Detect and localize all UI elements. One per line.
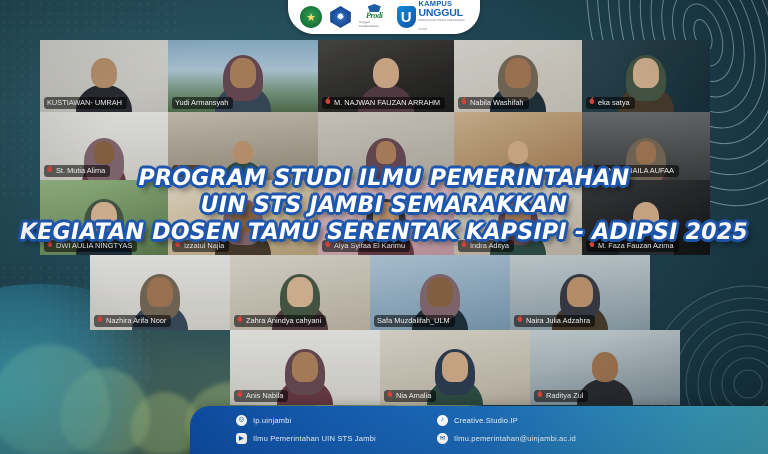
logo-bar: Prodi Unggul Terakreditasi KAMPUS UNGGUL…: [288, 0, 480, 34]
participant-tile[interactable]: KUSTIAWAN- UMRAH: [40, 40, 168, 112]
headline-line-2: UIN STS JAMBI SEMARAKKAN: [0, 192, 768, 219]
prodi-logo-label: Prodi: [366, 12, 383, 20]
footer-contact-label: Creative.Studio.IP: [454, 416, 518, 425]
muted-microphone-icon: [387, 392, 393, 400]
participant-name: KUSTIAWAN- UMRAH: [47, 98, 122, 107]
participant-name-badge: KUSTIAWAN- UMRAH: [44, 97, 127, 110]
participant-name-badge: Yudi Armansyah: [172, 97, 233, 110]
participant-tile[interactable]: Yudi Armansyah: [168, 40, 318, 112]
kampus-unggul-logo: KAMPUS UNGGUL PERGURUAN TINGGI KEAGAMAAN…: [397, 6, 468, 28]
participant-name: M. NAJWAN FAUZAN ARRAHM: [334, 98, 440, 107]
participant-tile[interactable]: Naira Julia Adzahra: [510, 255, 650, 330]
participant-tile[interactable]: Nia Amalia: [380, 330, 530, 405]
participant-tile[interactable]: Raditya Zul: [530, 330, 680, 405]
kampus-unggul-line2: UNGGUL: [419, 9, 468, 18]
participant-name-badge: Nazhira Arifa Noor: [94, 315, 171, 328]
prodi-crest-icon: [368, 4, 381, 12]
footer-contact-label: Ip.uinjambi: [253, 416, 291, 425]
muted-microphone-icon: [325, 99, 331, 107]
participant-name: Safa Muzdalifah_ULM: [377, 316, 450, 325]
muted-microphone-icon: [589, 99, 595, 107]
contact-footer: ◎Ip.uinjambi♪Creative.Studio.IP▶Ilmu Pem…: [190, 406, 768, 454]
participant-name: Anis Nabila: [246, 391, 283, 400]
participant-name: Nazhira Arifa Noor: [106, 316, 166, 325]
participant-name: eka satya: [598, 98, 630, 107]
footer-contact-item[interactable]: ♪Creative.Studio.IP: [437, 415, 768, 426]
uin-sts-jambi-logo: [329, 6, 352, 28]
footer-contact-label: Ilmu.pemerintahan@uinjambi.ac.id: [454, 434, 576, 443]
muted-microphone-icon: [461, 99, 467, 107]
poster-canvas: Prodi Unggul Terakreditasi KAMPUS UNGGUL…: [0, 0, 768, 454]
muted-microphone-icon: [237, 392, 243, 400]
participant-tile[interactable]: Anis Nabila: [230, 330, 380, 405]
participant-tile[interactable]: Zahra Anindya cahyani: [230, 255, 370, 330]
participant-name-badge: Nia Amalia: [384, 390, 436, 403]
headline-line-1: PROGRAM STUDI ILMU PEMERINTAHAN: [0, 165, 768, 192]
poster-headline: PROGRAM STUDI ILMU PEMERINTAHAN UIN STS …: [0, 165, 768, 246]
unggul-u-icon: [397, 6, 416, 28]
participant-name-badge: eka satya: [586, 97, 635, 110]
participant-name-badge: Safa Muzdalifah_ULM: [374, 315, 455, 328]
participant-name-badge: Naira Julia Adzahra: [514, 315, 595, 328]
participant-tile[interactable]: Safa Muzdalifah_ULM: [370, 255, 510, 330]
participant-name-badge: Nabila Washifah: [458, 97, 529, 110]
muted-microphone-icon: [517, 317, 523, 325]
participant-tile[interactable]: Nabila Washifah: [454, 40, 582, 112]
participant-tile[interactable]: eka satya: [582, 40, 710, 112]
participant-name: Naira Julia Adzahra: [526, 316, 590, 325]
participant-name: Nabila Washifah: [470, 98, 524, 107]
footer-contact-label: Ilmu Pemerintahan UIN STS Jambi: [253, 434, 376, 443]
muted-microphone-icon: [97, 317, 103, 325]
participant-tile[interactable]: Nazhira Arifa Noor: [90, 255, 230, 330]
participant-tile[interactable]: M. NAJWAN FAUZAN ARRAHM: [318, 40, 454, 112]
youtube-icon: ▶: [236, 433, 247, 444]
participant-name: Raditya Zul: [546, 391, 583, 400]
muted-microphone-icon: [537, 392, 543, 400]
participant-name-badge: Zahra Anindya cahyani: [234, 315, 326, 328]
footer-contact-item[interactable]: ✉Ilmu.pemerintahan@uinjambi.ac.id: [437, 433, 768, 444]
kampus-unggul-line3: PERGURUAN TINGGI KEAGAMAAN ISLAM: [419, 17, 468, 34]
footer-contact-item[interactable]: ▶Ilmu Pemerintahan UIN STS Jambi: [236, 433, 431, 444]
participant-name-badge: M. NAJWAN FAUZAN ARRAHM: [322, 97, 445, 110]
prodi-logo-sub: Unggul Terakreditasi: [359, 20, 390, 28]
participant-name: Nia Amalia: [396, 391, 431, 400]
tiktok-icon: ♪: [437, 415, 448, 426]
prodi-logo: Prodi Unggul Terakreditasi: [359, 4, 390, 28]
headline-line-3: KEGIATAN DOSEN TAMU SERENTAK KAPSIPI - A…: [0, 219, 768, 246]
kemenag-logo: [300, 6, 322, 28]
footer-contact-item[interactable]: ◎Ip.uinjambi: [236, 415, 431, 426]
instagram-icon: ◎: [236, 415, 247, 426]
participant-name-badge: Raditya Zul: [534, 390, 588, 403]
muted-microphone-icon: [237, 317, 243, 325]
participant-name-badge: Anis Nabila: [234, 390, 288, 403]
email-icon: ✉: [437, 433, 448, 444]
participant-name: Zahra Anindya cahyani: [246, 316, 321, 325]
participant-name: Yudi Armansyah: [175, 98, 228, 107]
